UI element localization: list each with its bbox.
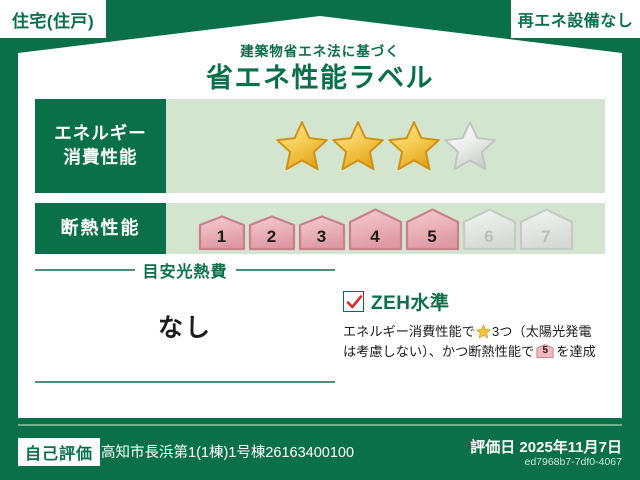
house-shape-icon: [405, 208, 460, 251]
property-address: 高知市長浜第1(1棟)1号棟26163400100: [101, 441, 354, 462]
house-shape-icon: [198, 215, 246, 251]
zeh-desc-part1: エネルギー消費性能で: [343, 324, 475, 339]
utility-cost-underline: [35, 381, 335, 383]
house-shape-icon: [298, 215, 346, 251]
footer: 自己評価 高知市長浜第1(1棟)1号棟26163400100 評価日 2025年…: [18, 434, 622, 478]
energy-performance-row: エネルギー 消費性能: [35, 99, 605, 193]
insulation-level-scale: 1234567: [198, 203, 574, 254]
zeh-title-row: ZEH水準: [343, 288, 611, 315]
star-filled-icon: [387, 119, 441, 173]
energy-performance-value: [166, 99, 605, 193]
insulation-level-2: 2: [248, 215, 296, 251]
inline-star-icon: [476, 324, 491, 339]
zeh-block: ZEH水準 エネルギー消費性能で3つ（太陽光発電は考慮しない）、かつ断熱性能で5…: [343, 288, 611, 363]
insulation-performance-value: 1234567: [166, 203, 605, 254]
heading-rule-left: [35, 269, 135, 271]
insulation-level-5: 5: [405, 208, 460, 251]
heading-rule-right: [236, 269, 336, 271]
insulation-level-7: 7: [519, 208, 574, 251]
evaluation-date: 評価日 2025年11月7日: [470, 436, 622, 457]
star-rating: [275, 119, 497, 173]
utility-cost-block: 目安光熱費 なし: [35, 258, 335, 344]
zeh-desc-part3: を達成: [556, 344, 596, 359]
energy-performance-label: エネルギー 消費性能: [35, 99, 166, 193]
utility-cost-heading: 目安光熱費: [35, 258, 335, 282]
star-filled-icon: [331, 119, 385, 173]
zeh-title: ZEH水準: [371, 288, 450, 315]
energy-performance-label: 住宅(住戸) 再エネ設備なし 建築物省エネ法に基づく 省エネ性能ラベル エネルギ…: [0, 0, 640, 480]
insulation-level-3: 3: [298, 215, 346, 251]
house-shape-icon: [519, 208, 574, 251]
house-shape-icon: [462, 208, 517, 251]
utility-cost-value: なし: [35, 308, 335, 344]
zeh-desc-part2: は考慮しない）、かつ断熱性能で: [343, 344, 534, 359]
utility-cost-heading-text: 目安光熱費: [143, 258, 228, 282]
star-empty-icon: [443, 119, 497, 173]
footer-divider: [18, 424, 622, 426]
insulation-level-1: 1: [198, 215, 246, 251]
star-filled-icon: [275, 119, 329, 173]
self-evaluation-badge: 自己評価: [18, 438, 100, 466]
insulation-level-6: 6: [462, 208, 517, 251]
evaluation-id: ed7968b7-7df0-4067: [524, 456, 622, 468]
energy-label-line2: 消費性能: [64, 146, 138, 170]
zeh-description: エネルギー消費性能で3つ（太陽光発電は考慮しない）、かつ断熱性能で5を達成: [343, 322, 611, 363]
energy-label-line1: エネルギー: [54, 122, 147, 146]
insulation-performance-row: 断熱性能 1234567: [35, 203, 605, 254]
insulation-performance-label: 断熱性能: [35, 203, 166, 254]
renewable-equipment-badge: 再エネ設備なし: [511, 0, 640, 38]
zeh-desc-star-count: 3つ（太陽光発電: [492, 324, 592, 339]
inline-house-icon: 5: [536, 344, 554, 358]
check-icon: [346, 294, 363, 311]
insulation-level-4: 4: [348, 208, 403, 251]
building-type-badge: 住宅(住戸): [0, 0, 106, 38]
zeh-checkbox[interactable]: [343, 291, 364, 312]
house-shape-icon: [248, 215, 296, 251]
house-shape-icon: [348, 208, 403, 251]
